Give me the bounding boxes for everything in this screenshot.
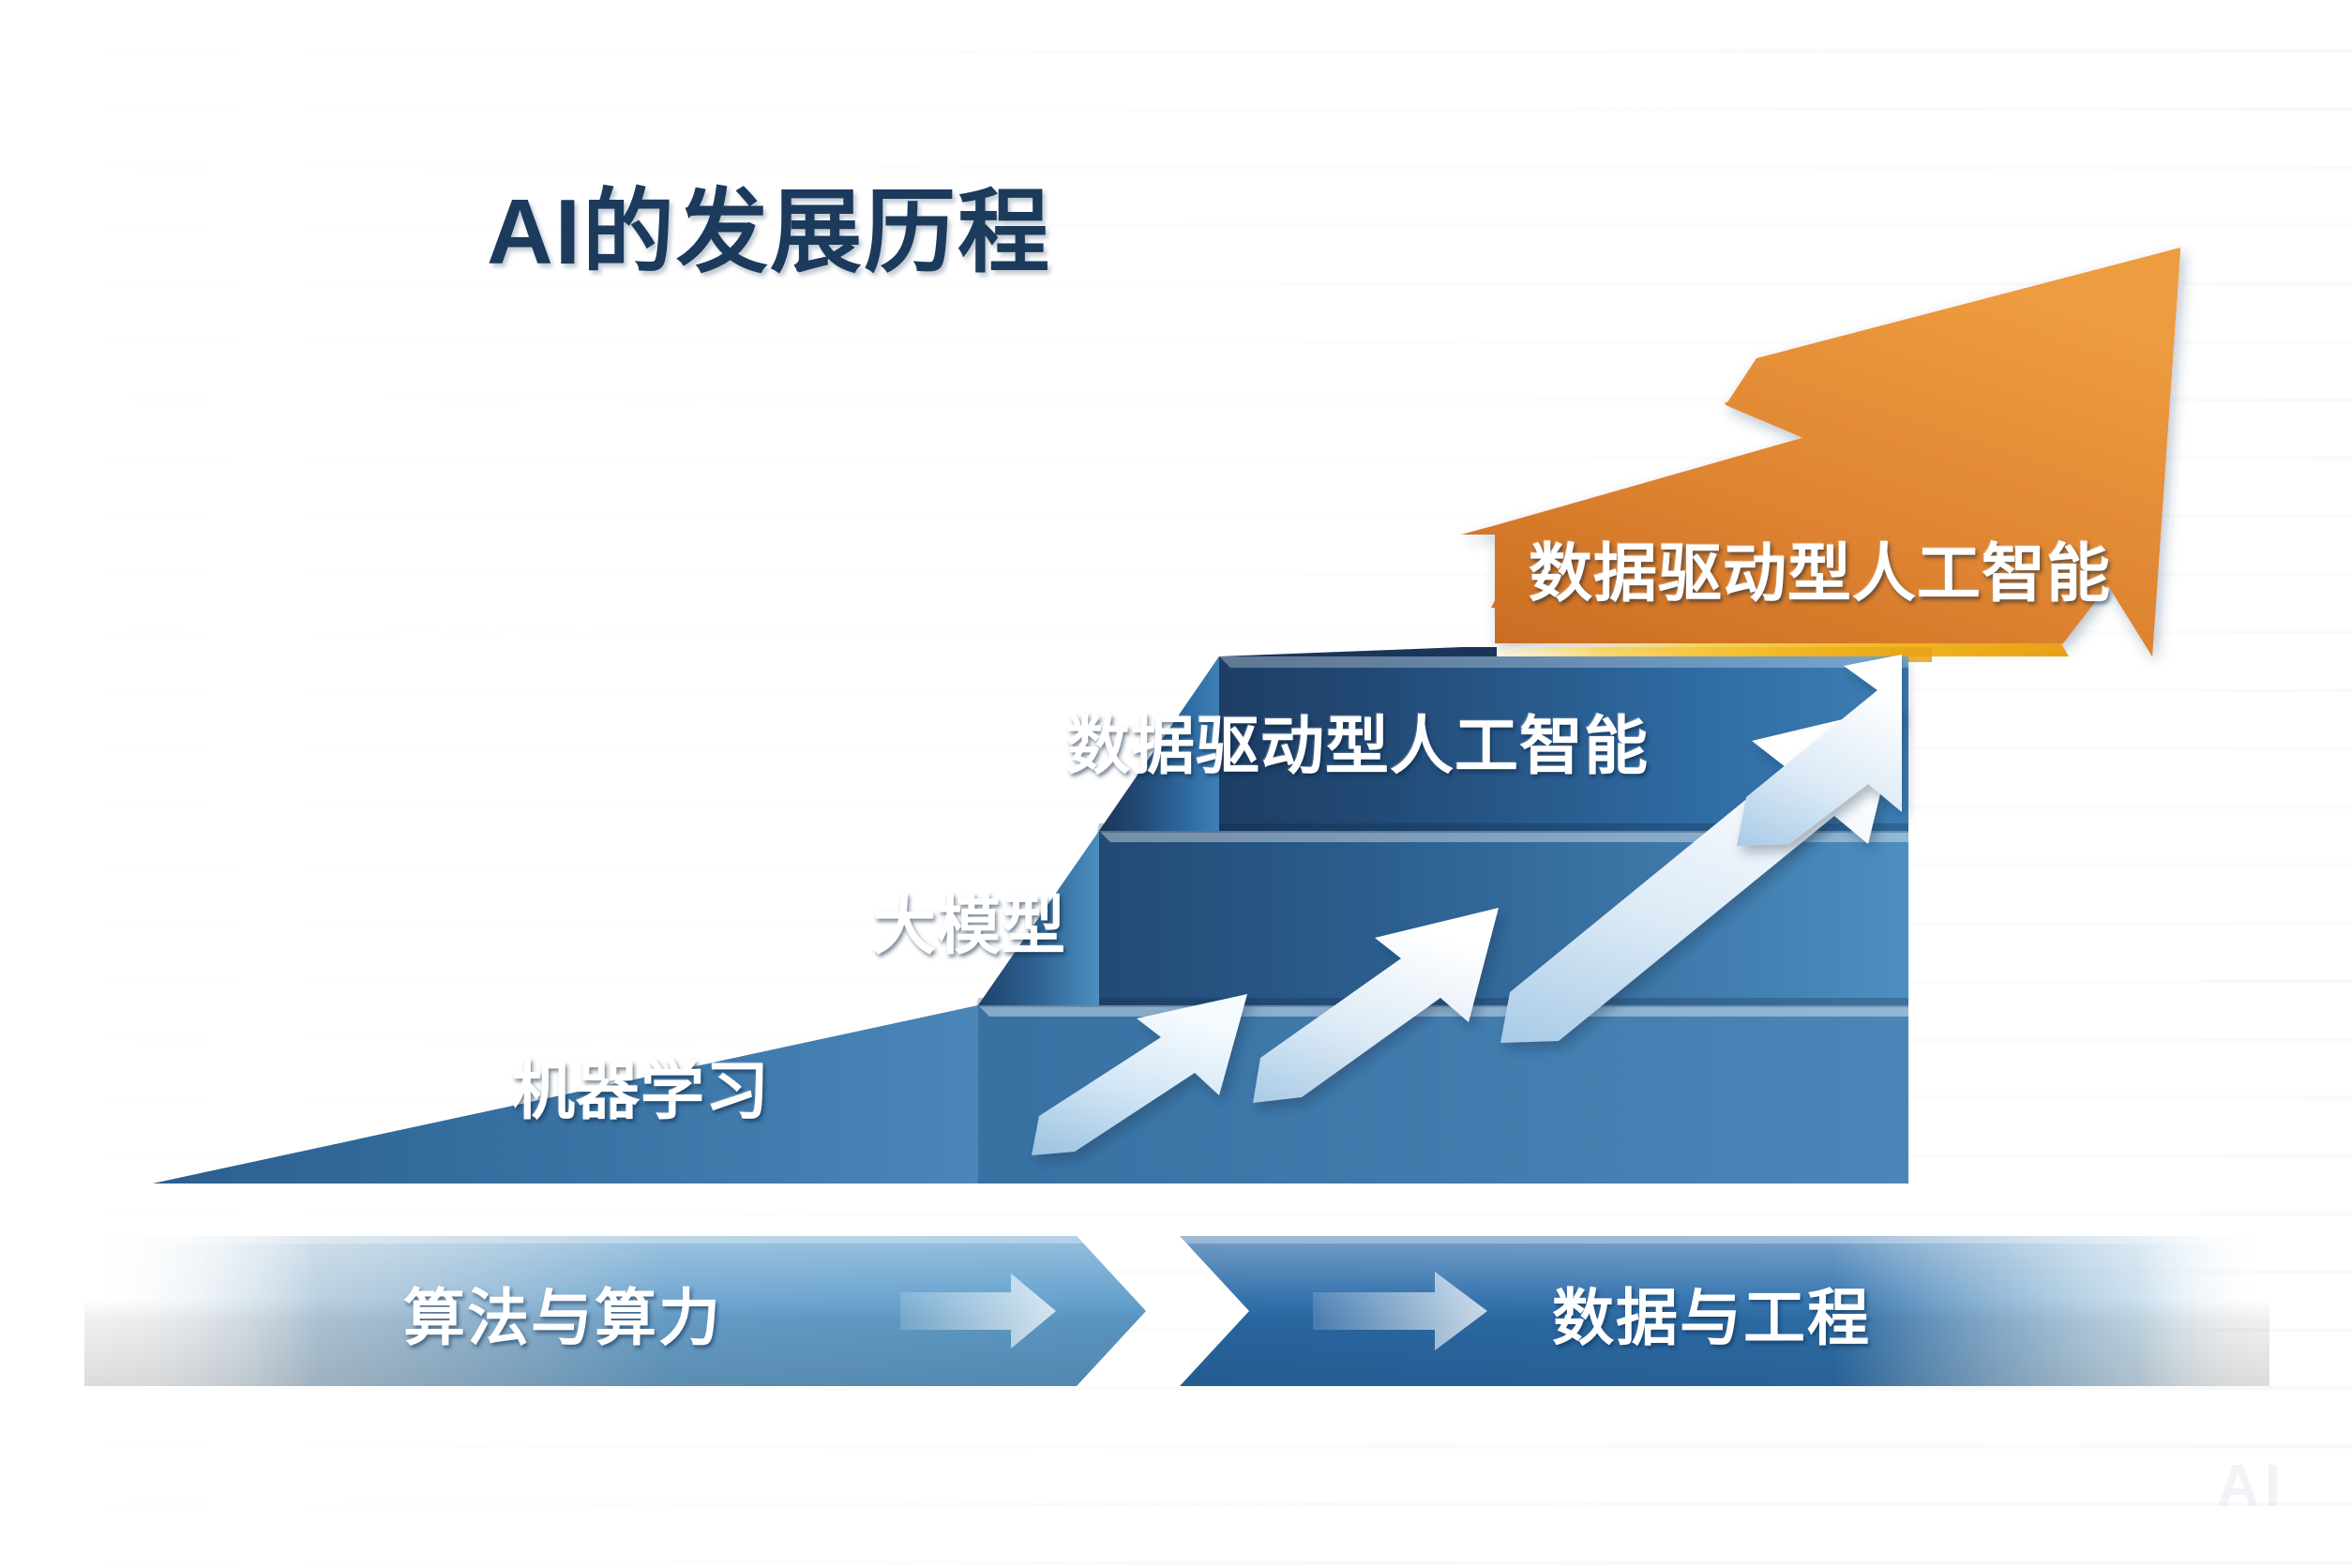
stage-label-large-model: 大模型 bbox=[872, 874, 1066, 967]
foundation-label-algorithms-compute: 算法与算力 bbox=[403, 1268, 722, 1358]
stage-label-data-driven-ai-blue: 数据驱动型人工智能 bbox=[1066, 694, 1649, 787]
slide-canvas: AI AI的发展历程 bbox=[0, 0, 2352, 1568]
page-title: AI的发展历程 bbox=[0, 158, 1538, 291]
stage-label-data-driven-ai-orange: 数据驱动型人工智能 bbox=[1529, 521, 2111, 614]
stage-label-machine-learning: 机器学习 bbox=[511, 1039, 770, 1132]
foundation-label-data-engineering: 数据与工程 bbox=[1552, 1268, 1871, 1358]
